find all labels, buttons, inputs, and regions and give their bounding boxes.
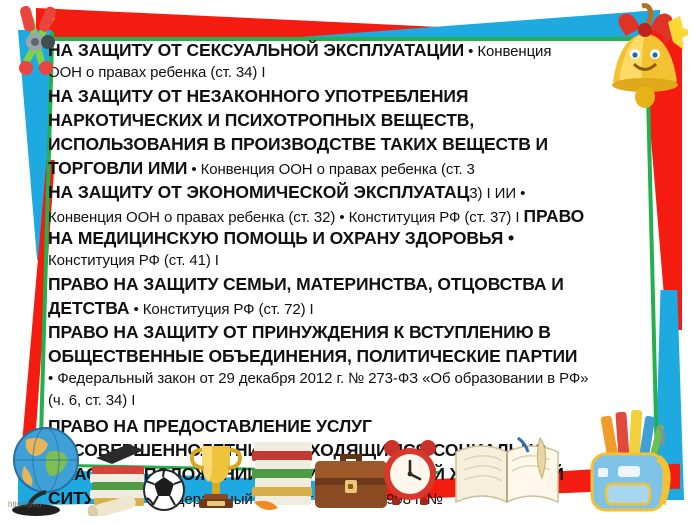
line-bold: ДЕТСТВА	[48, 298, 129, 318]
frame-top-cyan-band	[36, 8, 660, 40]
line-normal: • Конвенция	[464, 43, 551, 60]
line-bold: ПРАВО	[524, 206, 585, 226]
line-bold: НЕСОВЕРШЕННОЛЕТНИМ, НАХОДЯЩИМСЯ СОЦИАЛЬН…	[48, 440, 547, 460]
line-bold: ОПАСНОМ ПОЛОЖЕНИИ ИЛИ ИНОЙ ТРУДНОЙ ЖИЗНЕ…	[48, 464, 564, 484]
text-line-12: ДЕТСТВА • Конституция РФ (ст. 72) I	[48, 298, 314, 319]
line-normal: • Конвенция ООН о правах ребенка (ст. 3	[187, 161, 474, 178]
line-bold: НА ЗАЩИТУ ОТ ЭКОНОМИЧЕСКОЙ ЭКСПЛУАТАЦ	[48, 182, 469, 202]
text-line-8: Конвенция ООН о правах ребенка (ст. 32) …	[48, 206, 584, 227]
slide-canvas: НА ЗАЩИТУ ОТ СЕКСУАЛЬНОЙ ЭКСПЛУАТАЦИИ • …	[0, 0, 700, 525]
text-line-7: НА ЗАЩИТУ ОТ ЭКОНОМИЧЕСКОЙ ЭКСПЛУАТАЦ3) …	[48, 182, 525, 203]
line-bold: НАРКОТИЧЕСКИХ И ПСИХОТРОПНЫХ ВЕЩЕСТВ,	[48, 110, 474, 130]
text-line-15: • Федеральный закон от 29 декабря 2012 г…	[48, 370, 588, 388]
line-overlap-fragment: 3) I ИИ •	[469, 185, 525, 202]
line-bold: ОБЩЕСТВЕННЫЕ ОБЪЕДИНЕНИЯ, ПОЛИТИЧЕСКИЕ П…	[48, 346, 577, 366]
text-line-17: ПРАВО НА ПРЕДОСТАВЛЕНИЕ УСЛУГ	[48, 416, 372, 437]
text-line-2: ООН о правах ребенка (ст. 34) I	[48, 64, 265, 82]
text-line-14: ОБЩЕСТВЕННЫЕ ОБЪЕДИНЕНИЯ, ПОЛИТИЧЕСКИЕ П…	[48, 346, 577, 367]
line-normal: ООН о правах ребенка (ст. 34) I	[48, 64, 265, 81]
line-bold: НА ЗАЩИТУ ОТ НЕЗАКОННОГО УПОТРЕБЛЕНИЯ	[48, 86, 468, 106]
line-bold: ТОРГОВЛИ ИМИ	[48, 158, 187, 178]
text-line-19: ОПАСНОМ ПОЛОЖЕНИИ ИЛИ ИНОЙ ТРУДНОЙ ЖИЗНЕ…	[48, 464, 564, 485]
text-line-16: (ч. 6, ст. 34) I	[48, 392, 135, 410]
line-bold: ПРАВО НА ПРЕДОСТАВЛЕНИЕ УСЛУГ	[48, 416, 372, 436]
text-line-1: НА ЗАЩИТУ ОТ СЕКСУАЛЬНОЙ ЭКСПЛУАТАЦИИ • …	[48, 40, 551, 61]
rights-text-block: НА ЗАЩИТУ ОТ СЕКСУАЛЬНОЙ ЭКСПЛУАТАЦИИ • …	[0, 38, 700, 468]
text-line-11: ПРАВО НА ЗАЩИТУ СЕМЬИ, МАТЕРИНСТВА, ОТЦО…	[48, 274, 564, 295]
text-line-20: СИТУАЦИИ • Федеральный закон от 24 июля …	[48, 488, 443, 509]
line-bold: НА ЗАЩИТУ ОТ СЕКСУАЛЬНОЙ ЭКСПЛУАТАЦИИ	[48, 40, 464, 60]
text-line-5: ИСПОЛЬЗОВАНИЯ В ПРОИЗВОДСТВЕ ТАКИХ ВЕЩЕС…	[48, 134, 548, 155]
line-bold: ИСПОЛЬЗОВАНИЯ В ПРОИЗВОДСТВЕ ТАКИХ ВЕЩЕС…	[48, 134, 548, 154]
text-line-13: ПРАВО НА ЗАЩИТУ ОТ ПРИНУЖДЕНИЯ К ВСТУПЛЕ…	[48, 322, 551, 343]
line-bold: СИТУАЦИИ	[48, 488, 143, 508]
text-line-18: НЕСОВЕРШЕННОЛЕТНИМ, НАХОДЯЩИМСЯ СОЦИАЛЬН…	[48, 440, 547, 461]
text-line-6: ТОРГОВЛИ ИМИ • Конвенция ООН о правах ре…	[48, 158, 475, 179]
text-line-3: НА ЗАЩИТУ ОТ НЕЗАКОННОГО УПОТРЕБЛЕНИЯ	[48, 86, 468, 107]
line-normal: • Конституция РФ (ст. 72) I	[129, 301, 313, 318]
frame-top-red-band	[36, 8, 636, 40]
text-line-4: НАРКОТИЧЕСКИХ И ПСИХОТРОПНЫХ ВЕЩЕСТВ,	[48, 110, 474, 131]
watermark-text: http://ped	[8, 500, 41, 509]
line-bold: НА МЕДИЦИНСКУЮ ПОМОЩЬ И ОХРАНУ ЗДОРОВЬЯ …	[48, 228, 514, 248]
line-normal: • Федеральный закон от 29 декабря 2012 г…	[48, 370, 588, 387]
line-normal: Конституция РФ (ст. 41) I	[48, 252, 219, 269]
line-normal: Конвенция ООН о правах ребенка (ст. 32) …	[48, 209, 524, 226]
line-bold: ПРАВО НА ЗАЩИТУ ОТ ПРИНУЖДЕНИЯ К ВСТУПЛЕ…	[48, 322, 551, 342]
text-line-10: Конституция РФ (ст. 41) I	[48, 252, 219, 270]
text-line-9: НА МЕДИЦИНСКУЮ ПОМОЩЬ И ОХРАНУ ЗДОРОВЬЯ …	[48, 228, 514, 249]
line-bold: ПРАВО НА ЗАЩИТУ СЕМЬИ, МАТЕРИНСТВА, ОТЦО…	[48, 274, 564, 294]
line-normal: • Федеральный закон от 24 июля 1998 г. №	[143, 491, 442, 508]
line-normal: (ч. 6, ст. 34) I	[48, 392, 135, 409]
